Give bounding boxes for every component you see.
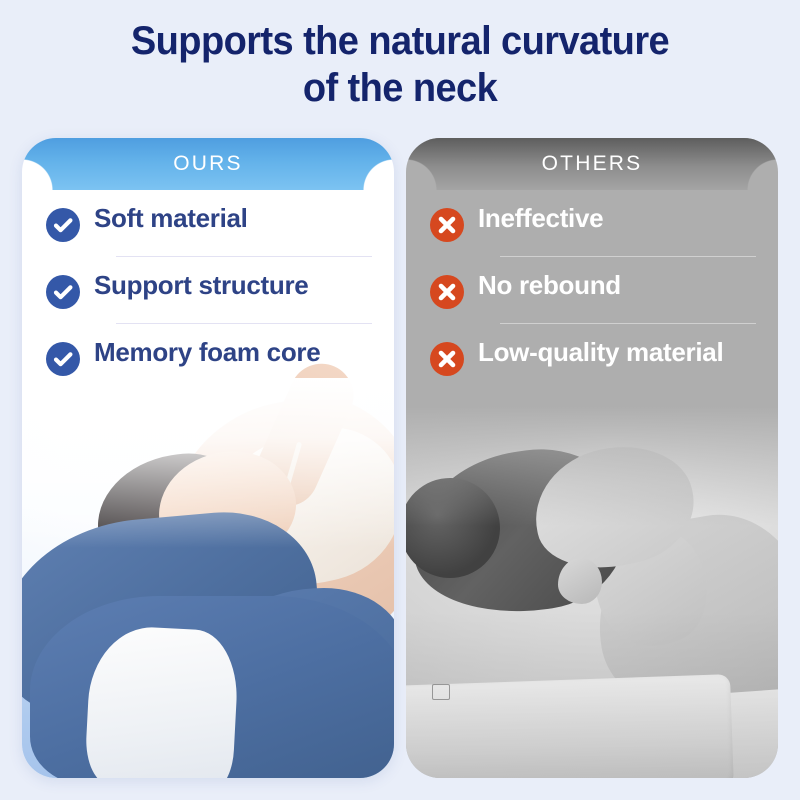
comparison-cards: OURS Soft material Support structure (0, 138, 800, 786)
feature-item: Ineffective (428, 190, 756, 256)
feature-list-others: Ineffective No rebound Low-quality (406, 190, 778, 390)
x-circle-icon (430, 275, 464, 309)
feature-label: Support structure (94, 271, 308, 300)
feature-item: No rebound (428, 257, 756, 323)
product-photo-others (406, 406, 778, 778)
feature-label: Low-quality material (478, 338, 723, 367)
x-circle-icon (430, 208, 464, 242)
feature-item: Support structure (44, 257, 372, 323)
banner-label-ours: OURS (173, 152, 242, 176)
banner-ours: OURS (22, 138, 394, 190)
comparison-card-ours: OURS Soft material Support structure (22, 138, 394, 778)
product-photo-ours (22, 378, 394, 778)
feature-item: Low-quality material (428, 324, 756, 390)
x-circle-icon (430, 342, 464, 376)
banner-label-others: OTHERS (542, 152, 643, 176)
feature-label: Memory foam core (94, 338, 320, 367)
feature-label: Ineffective (478, 204, 603, 233)
comparison-card-others: OTHERS Ineffective No rebound (406, 138, 778, 778)
feature-label: No rebound (478, 271, 621, 300)
feature-item: Soft material (44, 190, 372, 256)
feature-item: Memory foam core (44, 324, 372, 390)
check-circle-icon (46, 275, 80, 309)
banner-others: OTHERS (406, 138, 778, 190)
feature-label: Soft material (94, 204, 248, 233)
page-headline: Supports the natural curvature of the ne… (20, 18, 780, 112)
check-circle-icon (46, 342, 80, 376)
feature-list-ours: Soft material Support structure Memory f… (22, 190, 394, 390)
check-circle-icon (46, 208, 80, 242)
